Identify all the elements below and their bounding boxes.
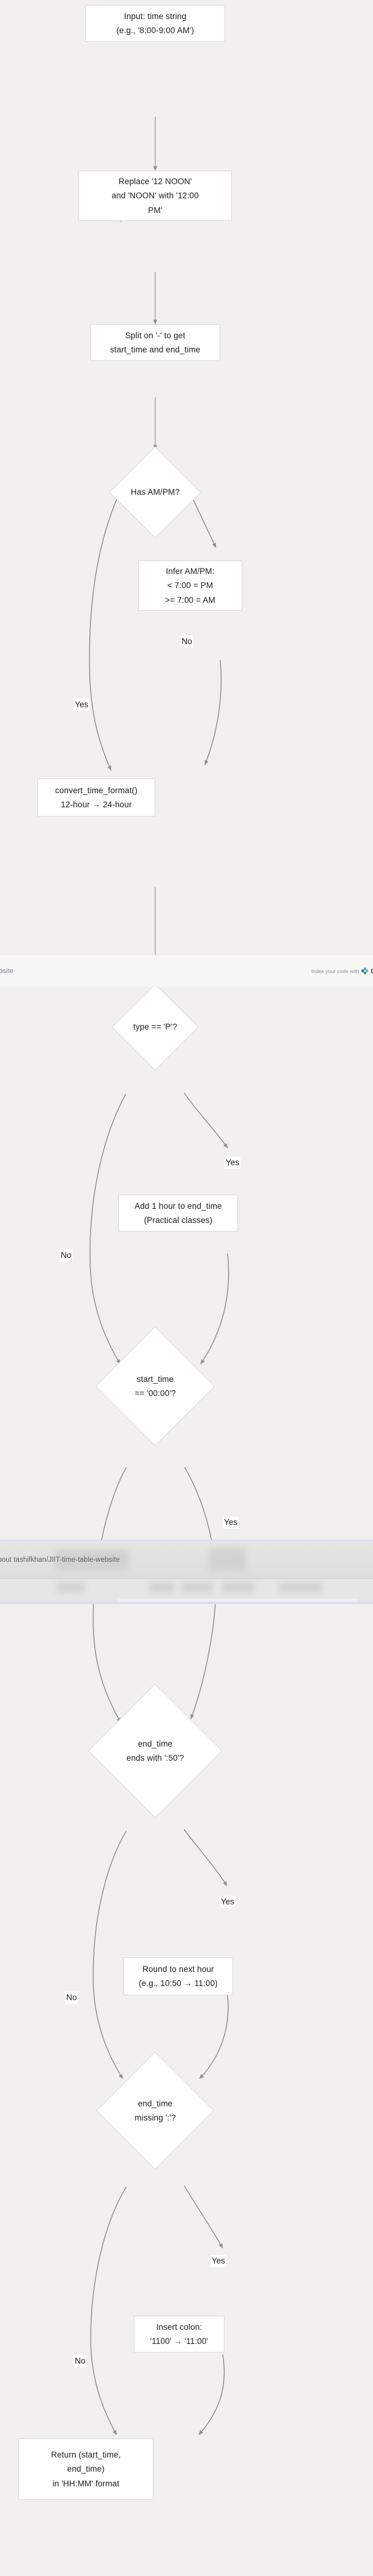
edge-label-no: No — [65, 1992, 78, 2004]
repo-name-text: ebsite — [0, 968, 13, 975]
edge-label-yes: Yes — [225, 1157, 240, 1169]
node-line: in 'HH:MM' format — [53, 2477, 120, 2491]
edge-label-yes: Yes — [74, 699, 90, 711]
node-line: < 7:00 = PM — [167, 578, 213, 592]
popup-tail — [118, 1599, 358, 1604]
node-line: start_time — [137, 1372, 174, 1386]
node-line: type == 'P'? — [133, 1020, 177, 1034]
popup-blur-blob — [56, 1583, 85, 1593]
node-line: Insert colon: — [156, 2320, 202, 2334]
flowchart-page: Input: time string (e.g., '8:00-9:00 AM'… — [0, 0, 373, 2576]
node-split-on-dash: Split on '-' to get start_time and end_t… — [90, 324, 220, 361]
node-line: end_time — [138, 1737, 172, 1751]
diamond-label: end_time ends with ':50'? — [80, 1671, 230, 1831]
edge-label-yes: Yes — [210, 2255, 226, 2267]
popup-blur-blob — [182, 1583, 213, 1593]
node-line: missing ':'? — [134, 2111, 175, 2125]
node-type-p-decision: type == 'P'? — [99, 986, 212, 1068]
diamond-label: Has AM/PM? — [99, 451, 212, 533]
edge-label-no: No — [74, 2355, 87, 2367]
edge-label-yes: Yes — [223, 1516, 239, 1529]
node-start-time-zero-decision: start_time == '00:00'? — [87, 1306, 224, 1466]
node-line: Round to next hour — [142, 1962, 214, 1976]
node-line: >= 7:00 = AM — [165, 593, 215, 607]
popup-actions-row[interactable] — [0, 1579, 373, 1602]
popup-blur-blob — [149, 1583, 174, 1593]
node-has-ampm-decision: Has AM/PM? — [99, 451, 212, 533]
node-endtime-missing-colon-decision: end_time missing ':'? — [87, 2031, 224, 2190]
node-line: start_time and end_time — [110, 343, 200, 357]
node-line: convert_time_format() — [55, 783, 137, 797]
index-prompt-text: Index your code with — [312, 968, 360, 974]
node-line: Has AM/PM? — [131, 485, 180, 499]
node-endtime-ends-50-decision: end_time ends with ':50'? — [80, 1671, 230, 1831]
node-line: and 'NOON' with '12:00 — [112, 188, 199, 203]
diamond-label: end_time missing ':'? — [87, 2031, 224, 2190]
deepwiki-logo-icon — [361, 968, 368, 974]
node-line: Split on '-' to get — [125, 328, 185, 343]
popup-url-row[interactable]: about tashifkhan/JIIT-time-table-website — [0, 1541, 373, 1579]
edge-label-no: No — [180, 635, 193, 648]
node-line: end_time — [138, 2097, 172, 2111]
node-line: Infer AM/PM: — [166, 564, 214, 578]
node-line: Return (start_time, — [51, 2448, 121, 2462]
node-insert-colon: Insert colon: '1100' → '11:00' — [134, 2316, 225, 2353]
node-replace-noon: Replace '12 NOON' and 'NOON' with '12:00… — [79, 171, 232, 221]
node-line: PM' — [148, 203, 162, 217]
popup-blur-blob — [209, 1548, 245, 1572]
node-line: == '00:00'? — [134, 1386, 175, 1400]
browser-popup-overlay[interactable]: about tashifkhan/JIIT-time-table-website — [0, 1540, 373, 1604]
node-return-result: Return (start_time, end_time) in 'HH:MM'… — [18, 2438, 153, 2500]
diamond-label: start_time == '00:00'? — [87, 1306, 224, 1466]
node-line: (e.g., 10:50 → 11:00) — [139, 1976, 218, 1990]
node-line: Add 1 hour to end_time — [134, 1199, 222, 1213]
deepwiki-header-bar[interactable]: ebsite Index your code with De — [0, 955, 373, 987]
node-line: end_time) — [67, 2462, 105, 2476]
node-line: Replace '12 NOON' — [118, 174, 191, 188]
node-line: 12-hour → 24-hour — [61, 797, 132, 812]
edge-label-yes: Yes — [220, 1896, 236, 1908]
diamond-label: type == 'P'? — [99, 986, 212, 1068]
index-code-cta[interactable]: Index your code with De — [312, 968, 373, 974]
popup-blur-blob — [279, 1583, 322, 1593]
node-add-one-hour: Add 1 hour to end_time (Practical classe… — [118, 1195, 238, 1232]
node-round-next-hour: Round to next hour (e.g., 10:50 → 11:00) — [123, 1957, 233, 1995]
deepwiki-brand-text: De — [371, 968, 373, 974]
node-line: (e.g., '8:00-9:00 AM') — [117, 23, 194, 37]
popup-url-text: about tashifkhan/JIIT-time-table-website — [0, 1556, 120, 1564]
edge-label-no: No — [60, 1249, 72, 1262]
node-line: (Practical classes) — [144, 1213, 212, 1227]
node-infer-ampm: Infer AM/PM: < 7:00 = PM >= 7:00 = AM — [138, 561, 242, 611]
node-input-time-string: Input: time string (e.g., '8:00-9:00 AM'… — [85, 5, 225, 42]
node-line: ends with ':50'? — [126, 1751, 184, 1765]
popup-blur-blob — [222, 1583, 254, 1593]
node-line: '1100' → '11:00' — [150, 2334, 209, 2348]
node-line: Input: time string — [124, 9, 186, 23]
node-convert-time-format: convert_time_format() 12-hour → 24-hour — [37, 778, 155, 817]
